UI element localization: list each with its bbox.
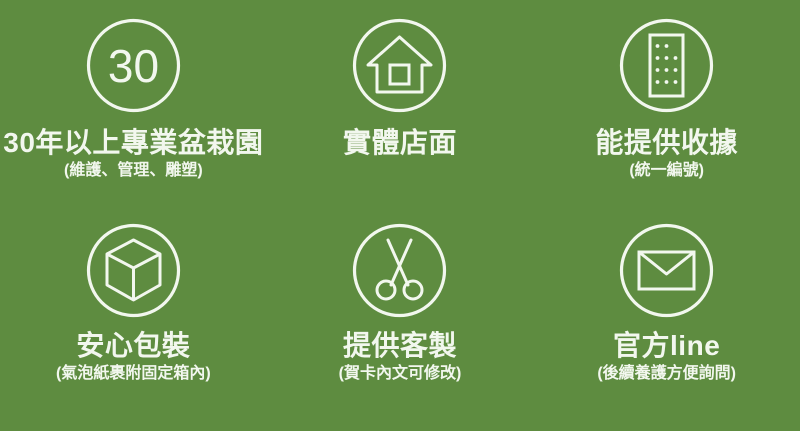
feature-title: 實體店面 [343, 127, 457, 158]
features-banner: 30 30年以上專業盆栽園 (維護、管理、雕塑) 實體店面 [0, 0, 800, 431]
house-icon [352, 18, 447, 113]
feature-cell-official-line: 官方line (後續養護方便詢問) [533, 221, 800, 424]
receipt-icon [619, 18, 714, 113]
feature-subtitle: (賀卡內文可修改) [339, 365, 462, 383]
number-30-circle-icon: 30 [86, 18, 181, 113]
feature-cell-experience: 30 30年以上專業盆栽園 (維護、管理、雕塑) [0, 18, 267, 221]
feature-subtitle: (維護、管理、雕塑) [64, 162, 203, 180]
box-cube-icon [86, 223, 181, 318]
feature-subtitle: (氣泡紙裹附固定箱內) [56, 365, 211, 383]
feature-cell-receipt: 能提供收據 (統一編號) [533, 18, 800, 221]
feature-cell-customization: 提供客製 (賀卡內文可修改) [267, 221, 534, 424]
feature-title: 安心包裝 [76, 330, 190, 361]
feature-title: 提供客製 [343, 330, 457, 361]
scissors-icon [352, 223, 447, 318]
feature-cell-physical-store: 實體店面 [267, 18, 534, 221]
feature-cell-packaging: 安心包裝 (氣泡紙裹附固定箱內) [0, 221, 267, 424]
feature-subtitle: (後續養護方便詢問) [597, 365, 736, 383]
number-30-label: 30 [108, 40, 159, 92]
feature-subtitle: (統一編號) [629, 162, 704, 180]
feature-title: 官方line [613, 330, 720, 361]
feature-title: 能提供收據 [595, 127, 738, 158]
feature-title: 30年以上專業盆栽園 [3, 127, 263, 158]
envelope-icon [619, 223, 714, 318]
